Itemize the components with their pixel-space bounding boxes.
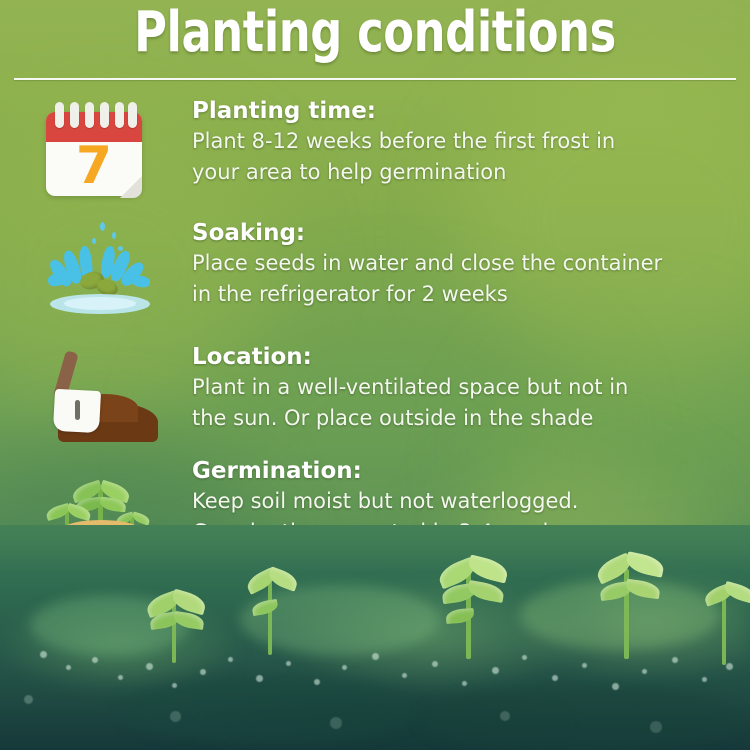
section-heading: Soaking: — [192, 218, 740, 248]
section-heading: Germination: — [192, 456, 740, 486]
section-body-line: Place seeds in water and close the conta… — [192, 248, 740, 279]
calendar-day-number: 7 — [46, 138, 142, 194]
section-body-line: Plant in a well-ventilated space but not… — [192, 372, 740, 403]
section-heading: Planting time: — [192, 96, 740, 126]
trowel-soil-icon — [34, 342, 166, 452]
section-body-line: Plant 8-12 weeks before the first frost … — [192, 126, 740, 157]
section-body-line: your area to help germination — [192, 157, 740, 188]
seedling-photo-band — [0, 525, 750, 750]
calendar-icon: 7 — [34, 96, 166, 206]
header: Planting conditions — [0, 0, 750, 80]
section-text: Soaking: Place seeds in water and close … — [192, 218, 740, 310]
title-divider — [14, 78, 736, 80]
planting-conditions-poster: Planting conditions 7 Planting time: Pla… — [0, 0, 750, 750]
water-splash-icon — [34, 218, 166, 328]
section-body-line: in the refrigerator for 2 weeks — [192, 279, 740, 310]
section-text: Location: Plant in a well-ventilated spa… — [192, 342, 740, 434]
section-body-line: Keep soil moist but not waterlogged. — [192, 486, 740, 517]
section-heading: Location: — [192, 342, 740, 372]
section-text: Planting time: Plant 8-12 weeks before t… — [192, 96, 740, 188]
page-title: Planting conditions — [75, 2, 675, 64]
section-body-line: the sun. Or place outside in the shade — [192, 403, 740, 434]
